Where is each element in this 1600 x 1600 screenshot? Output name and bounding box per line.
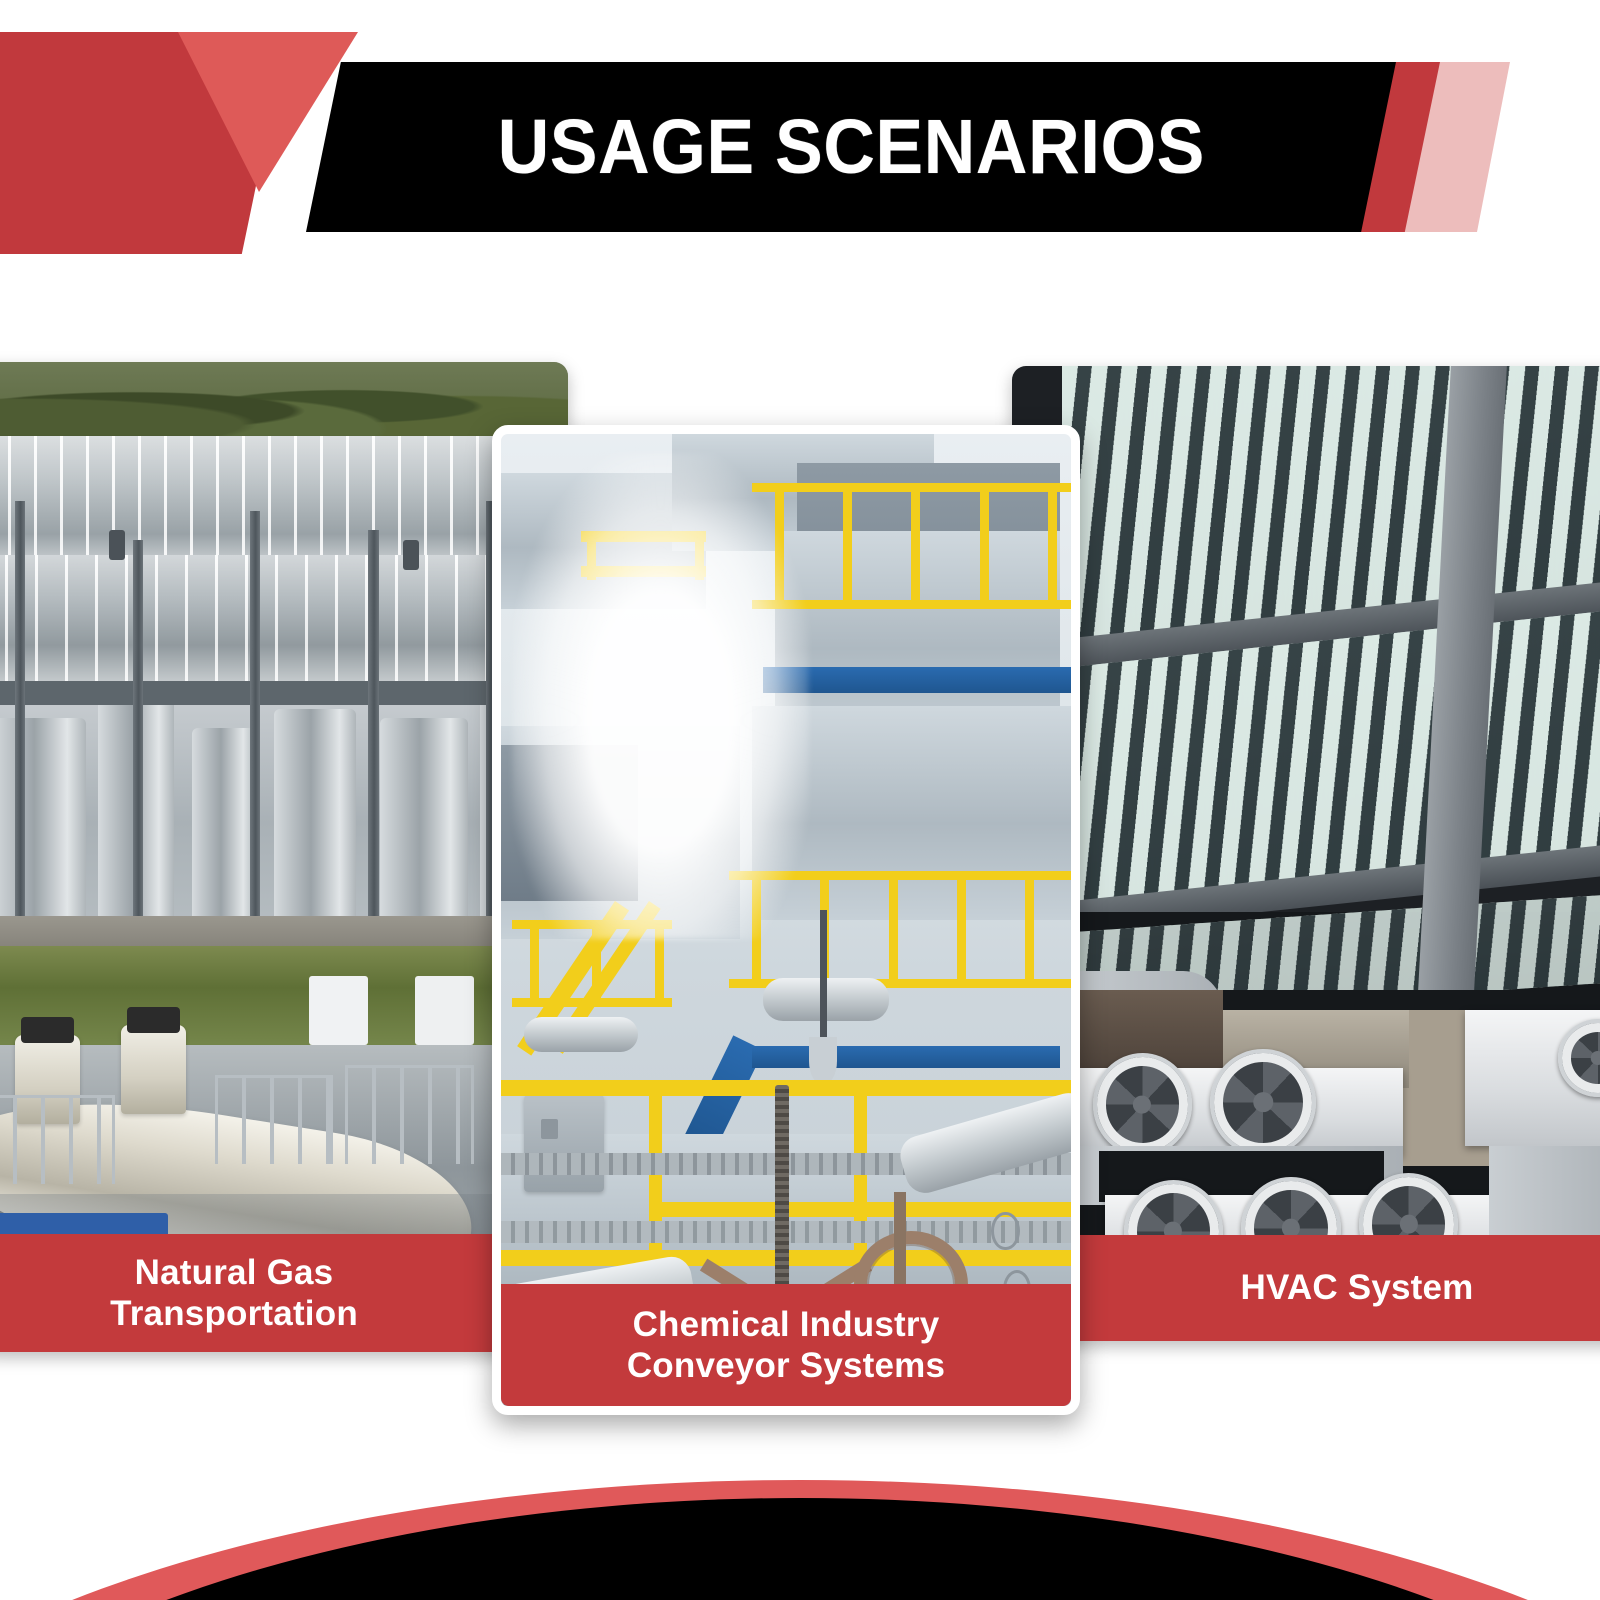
footer-arc-decoration [0,1450,1600,1600]
scenario-card-natural-gas[interactable]: Natural Gas Transportation [0,362,568,1352]
scenario-card-hvac[interactable]: HVAC System [1012,366,1600,1341]
card-caption-natural-gas: Natural Gas Transportation [0,1234,568,1352]
caption-line-2: Transportation [110,1293,358,1334]
chemical-industry-conveyor-photo [501,434,1071,1406]
card-caption-chemical-industry: Chemical Industry Conveyor Systems [501,1284,1071,1406]
caption-line-2: Conveyor Systems [627,1345,945,1386]
scenario-card-chemical-industry[interactable]: Chemical Industry Conveyor Systems [492,425,1080,1415]
scenario-card-group: Natural Gas Transportation [0,0,1600,1600]
natural-gas-transportation-photo [0,362,568,1352]
caption-line-1: HVAC System [1240,1267,1473,1308]
hvac-system-photo [1012,366,1600,1341]
card-caption-hvac: HVAC System [1012,1235,1600,1341]
caption-line-1: Natural Gas [135,1252,334,1293]
caption-line-1: Chemical Industry [633,1304,940,1345]
